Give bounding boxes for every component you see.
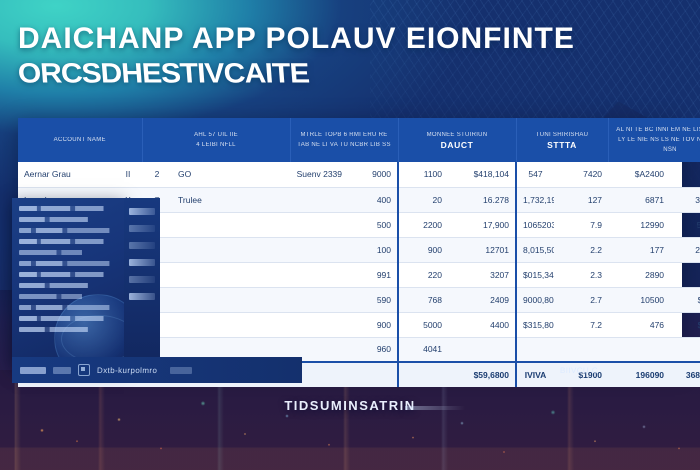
- cell-v2: 5000: [398, 312, 448, 337]
- bottom-caption: TIDSUMINSATRIN: [0, 398, 700, 413]
- side-panel-line: [19, 272, 117, 277]
- cell-v3: 4400: [448, 312, 516, 337]
- side-panel-line: [19, 327, 117, 332]
- side-panel-line: [19, 250, 117, 255]
- side-panel-line: [19, 228, 117, 233]
- side-panel-line: [19, 283, 117, 288]
- table-header-cell-dauct[interactable]: MONNEE STUIRIUN DAUCT: [398, 118, 516, 162]
- table-header-cell-account[interactable]: ACCOUNT NAME: [18, 118, 142, 162]
- cell-v6: 476: [608, 312, 670, 337]
- cell-v3: 3207: [448, 262, 516, 287]
- caption-underline-accent: [405, 406, 465, 410]
- cell-v1: 900: [348, 312, 398, 337]
- cell-v2: 20: [398, 187, 448, 212]
- cell-v5: 7.2: [554, 312, 608, 337]
- table-header-cell-group-2[interactable]: MTRLE TOPB 6 RMI ERU RE TAB NE LI VA TU …: [290, 118, 398, 162]
- header-sub-label: TUNI SHIRISHAU: [522, 130, 603, 140]
- cell-v6: 10500: [608, 287, 670, 312]
- footer-right-label: BIIVCU C: [560, 366, 598, 375]
- cell-v4: 9000,804: [516, 287, 554, 312]
- side-panel-line: [19, 316, 117, 321]
- header-sub-label: MTRLE TOPB 6 RMI ERU RE: [296, 130, 393, 140]
- table-header-cell-group-3[interactable]: AL NI TE BC INNI EM NE LIS TR NL LY LE N…: [608, 118, 700, 162]
- side-panel-line: [19, 217, 117, 222]
- side-panel-line: [19, 261, 117, 266]
- footer-right-group[interactable]: BIIVCU C: [560, 357, 598, 383]
- side-panel-text-lines: [12, 198, 124, 346]
- cell-label: [290, 187, 348, 212]
- cell-v2: 4041: [398, 337, 448, 362]
- cell-code: [172, 212, 290, 237]
- poster-title-line-2: ORCSDHESTIVCAITE: [17, 57, 310, 90]
- cell-v2: 2200: [398, 212, 448, 237]
- cell-total-v4: IVIVA: [516, 362, 554, 387]
- cell-total-v2: [398, 362, 448, 387]
- footer-label: Dxtb-kurpolmro: [97, 366, 158, 375]
- header-main-label: DAUCT: [404, 140, 511, 150]
- header-sub-label: AHL 57 UIL IIE: [148, 130, 285, 140]
- table-row[interactable]: Aernar Grau II 2 GO Suenv 2339 9000 1100…: [18, 162, 700, 187]
- cell-v3: 12701: [448, 237, 516, 262]
- cell-v6: 177: [608, 237, 670, 262]
- tab-chip[interactable]: [129, 293, 155, 300]
- tab-chip[interactable]: [129, 208, 155, 215]
- poster-title-line-1: DAICHANP APP POLAUV EIONFINTE: [18, 22, 575, 56]
- table-header-row: ACCOUNT NAME AHL 57 UIL IIE 4 LEIBI NFLL…: [18, 118, 700, 162]
- cell-index: 2: [142, 162, 172, 187]
- footer-chip: [53, 367, 71, 374]
- cell-v5: 7.9: [554, 212, 608, 237]
- cell-v2: 768: [398, 287, 448, 312]
- table-header-cell-group-1[interactable]: AHL 57 UIL IIE 4 LEIBI NFLL: [142, 118, 290, 162]
- cell-v6: 2890: [608, 262, 670, 287]
- cell-v5: 2.3: [554, 262, 608, 287]
- side-panel-line: [19, 206, 117, 211]
- cell-label: [290, 212, 348, 237]
- cell-v4: [516, 337, 554, 362]
- tab-chip[interactable]: [129, 276, 155, 283]
- cell-v5: 2.7: [554, 287, 608, 312]
- cell-v3: 16.278: [448, 187, 516, 212]
- tab-chip[interactable]: [129, 225, 155, 232]
- cell-account-name: Aernar Grau: [18, 162, 114, 187]
- cell-v6: $A2400: [608, 162, 670, 187]
- cell-v1: 960: [348, 337, 398, 362]
- header-sub-label-2: TAB NE LI VA TU NCBR LIB SS: [296, 140, 393, 150]
- cell-label: [290, 312, 348, 337]
- cell-v4: $315,801: [516, 312, 554, 337]
- cell-label: [290, 287, 348, 312]
- cell-label: [290, 262, 348, 287]
- cell-v7: 32,5019: [670, 187, 700, 212]
- footer-chip: [170, 367, 192, 374]
- cell-v7: [670, 337, 700, 362]
- side-panel-line: [19, 294, 117, 299]
- header-sub-label: ACCOUNT NAME: [23, 135, 137, 145]
- cell-v5: 127: [554, 187, 608, 212]
- cell-v3: 2409: [448, 287, 516, 312]
- cell-total-v1: [348, 362, 398, 387]
- cell-v6: [608, 337, 670, 362]
- cell-total-v6: 196090: [608, 362, 670, 387]
- tab-chip[interactable]: [129, 242, 155, 249]
- cell-v5: 7420: [554, 162, 608, 187]
- cell-v2: 900: [398, 237, 448, 262]
- cell-total-v7: 368,36191: [670, 362, 700, 387]
- footer-action-bar[interactable]: Dxtb-kurpolmro: [12, 357, 302, 383]
- cell-v6: 6871: [608, 187, 670, 212]
- cell-v2: 1100: [398, 162, 448, 187]
- table-header-cell-sttta[interactable]: TUNI SHIRISHAU STTTA: [516, 118, 608, 162]
- cell-v7: $25000: [670, 312, 700, 337]
- cell-v1: 500: [348, 212, 398, 237]
- checkbox-icon[interactable]: [78, 364, 90, 376]
- header-sub-label-2: 4 LEIBI NFLL: [148, 140, 285, 150]
- cell-v7: $22008: [670, 287, 700, 312]
- cell-label: [290, 237, 348, 262]
- cell-code: [172, 312, 290, 337]
- cell-v1: 991: [348, 262, 398, 287]
- cell-v1: 100: [348, 237, 398, 262]
- side-info-panel[interactable]: [12, 198, 124, 366]
- poster-canvas: DAICHANP APP POLAUV EIONFINTE ORCSDHESTI…: [0, 0, 700, 470]
- header-main-label: STTTA: [522, 140, 603, 150]
- cell-code: [172, 287, 290, 312]
- cell-v4: $015,3401: [516, 262, 554, 287]
- header-sub-label-2: LY LE NIE NS LS NE TOV NSLI BS NSN: [614, 135, 700, 155]
- side-tab-strip[interactable]: [124, 198, 160, 366]
- cell-code: Trulee: [172, 187, 290, 212]
- cell-total-v3: $59,6800: [448, 362, 516, 387]
- cell-code: [172, 262, 290, 287]
- cell-v7: 20,0018: [670, 237, 700, 262]
- cell-v7: 5A6019: [670, 212, 700, 237]
- header-sub-label: AL NI TE BC INNI EM NE LIS TR NL: [614, 125, 700, 135]
- cell-v5: 2.2: [554, 237, 608, 262]
- side-panel-line: [19, 239, 117, 244]
- cell-code: [172, 237, 290, 262]
- cell-v3: [448, 337, 516, 362]
- side-panel-line: [19, 305, 117, 310]
- cell-v3: $418,104: [448, 162, 516, 187]
- cell-v1: 9000: [348, 162, 398, 187]
- cell-v7: 19000: [670, 262, 700, 287]
- cell-v7: $3801: [670, 162, 700, 187]
- poster-title-block: DAICHANP APP POLAUV EIONFINTE ORCSDHESTI…: [18, 22, 638, 92]
- cell-v4: 1,732,198: [516, 187, 554, 212]
- cell-v1: 590: [348, 287, 398, 312]
- cell-v3: 17,900: [448, 212, 516, 237]
- cell-v2: 220: [398, 262, 448, 287]
- cell-v1: 400: [348, 187, 398, 212]
- footer-chip: [20, 367, 46, 374]
- cell-v4: 1065203: [516, 212, 554, 237]
- tab-chip[interactable]: [129, 259, 155, 266]
- cell-v6: 12990: [608, 212, 670, 237]
- cell-v4: 8,015,502: [516, 237, 554, 262]
- cell-code: GO: [172, 162, 290, 187]
- cell-flag: II: [114, 162, 142, 187]
- cell-v4: 547: [516, 162, 554, 187]
- cell-label: Suenv 2339: [290, 162, 348, 187]
- header-sub-label: MONNEE STUIRIUN: [404, 130, 511, 140]
